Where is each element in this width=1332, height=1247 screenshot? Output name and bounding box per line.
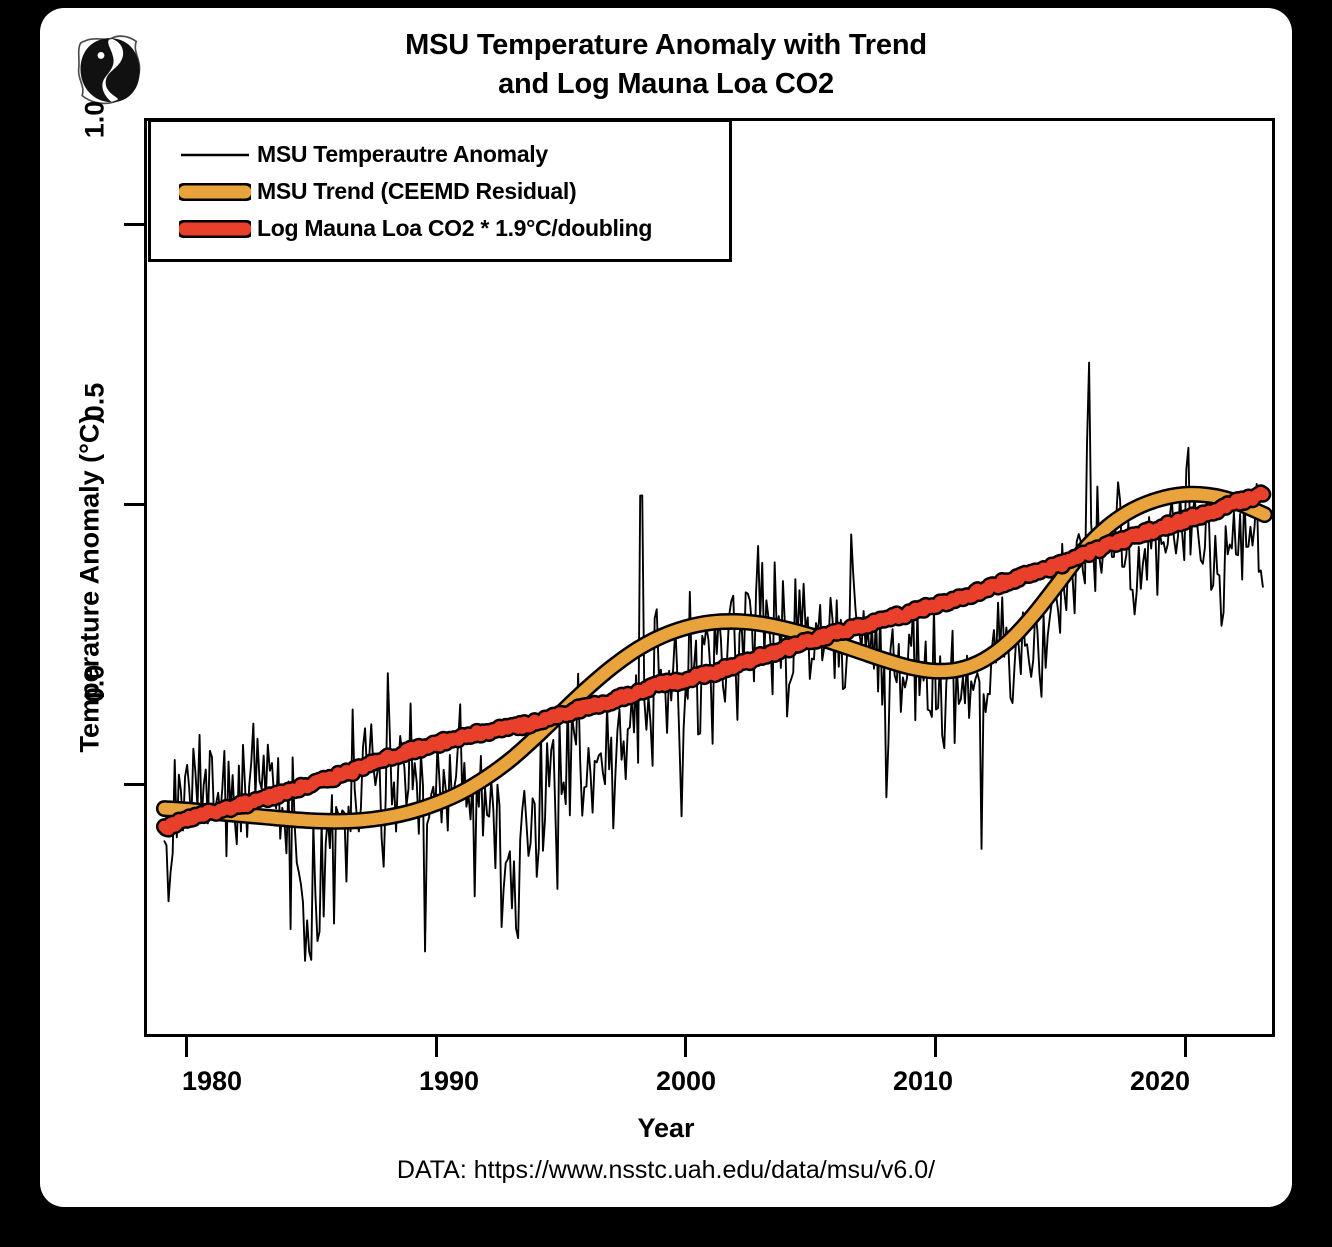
- legend-key-co2: [173, 218, 257, 240]
- x-tick-mark-2010: [934, 1037, 937, 1057]
- x-tick-label-2000: 2000: [626, 1066, 746, 1097]
- x-tick-mark-2020: [1184, 1037, 1187, 1057]
- figure-card: MSU Temperature Anomaly with Trend and L…: [40, 8, 1292, 1207]
- x-tick-mark-1980: [185, 1037, 188, 1057]
- x-tick-mark-2000: [684, 1037, 687, 1057]
- data-source-caption: DATA: https://www.nsstc.uah.edu/data/msu…: [40, 1156, 1292, 1185]
- legend-key-trend: [173, 181, 257, 203]
- legend-label-trend: MSU Trend (CEEMD Residual): [257, 178, 576, 205]
- legend-entry-co2: Log Mauna Loa CO2 * 1.9°C/doubling: [151, 210, 729, 247]
- legend-entry-trend: MSU Trend (CEEMD Residual): [151, 173, 729, 210]
- y-axis-label: Temperature Anomaly (°C): [75, 384, 106, 784]
- chart-title: MSU Temperature Anomaly with Trend and L…: [40, 26, 1292, 103]
- x-tick-mark-1990: [435, 1037, 438, 1057]
- legend-entry-anomaly: MSU Temperautre Anomaly: [151, 136, 729, 173]
- legend-key-anomaly: [173, 147, 257, 163]
- x-tick-label-1980: 1980: [152, 1066, 272, 1097]
- x-axis-label: Year: [40, 1113, 1292, 1144]
- legend-label-co2: Log Mauna Loa CO2 * 1.9°C/doubling: [257, 215, 652, 242]
- chart-title-line-2: and Log Mauna Loa CO2: [40, 65, 1292, 104]
- x-tick-label-2010: 2010: [863, 1066, 983, 1097]
- y-tick-mark-0: [124, 783, 144, 786]
- y-tick-label-1-0: 1.0: [80, 85, 111, 155]
- chart-legend: MSU Temperautre Anomaly MSU Trend (CEEMD…: [148, 119, 732, 262]
- y-tick-mark-0-5: [124, 503, 144, 506]
- y-tick-mark-1: [124, 223, 144, 226]
- x-tick-label-1990: 1990: [389, 1066, 509, 1097]
- chart-title-line-1: MSU Temperature Anomaly with Trend: [40, 26, 1292, 65]
- legend-label-anomaly: MSU Temperautre Anomaly: [257, 141, 548, 168]
- x-tick-label-2020: 2020: [1100, 1066, 1220, 1097]
- series-msu-temperature-anomaly: [164, 363, 1262, 961]
